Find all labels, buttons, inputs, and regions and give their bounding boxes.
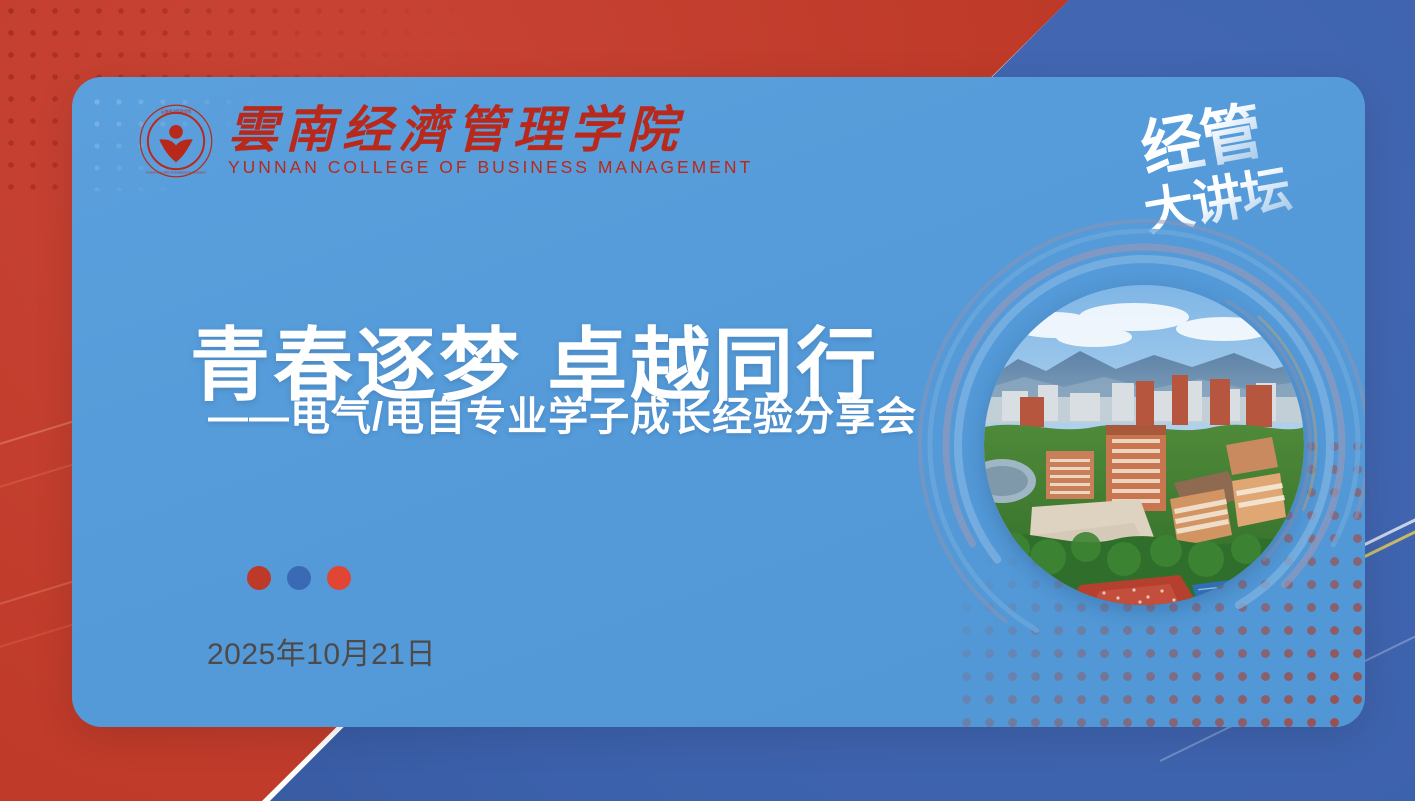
presentation-slide: 云南经济管理学院 YUNNAN COLLEGE OF BUSINESS MANA… bbox=[0, 0, 1415, 801]
page-subtitle: ——电气/电自专业学子成长经验分享会 bbox=[208, 397, 917, 437]
university-emblem-icon: 云南经济管理学院 YUNNAN COLLEGE OF BUSINESS MANA… bbox=[138, 103, 214, 179]
decorative-dot-row bbox=[247, 566, 351, 590]
svg-text:YUNNAN COLLEGE OF BUSINESS MAN: YUNNAN COLLEGE OF BUSINESS MANAGEMENT bbox=[145, 171, 206, 175]
page-title: 青春逐梦 卓越同行 bbox=[190, 326, 879, 406]
dot-red bbox=[327, 566, 351, 590]
logo-name-en: YUNNAN COLLEGE OF BUSINESS MANAGEMENT bbox=[228, 157, 753, 178]
event-date: 2025年10月21日 bbox=[207, 629, 436, 673]
slide-card: 云南经济管理学院 YUNNAN COLLEGE OF BUSINESS MANA… bbox=[72, 77, 1365, 727]
dot-blue bbox=[287, 566, 311, 590]
campus-photo-medallion bbox=[914, 215, 1365, 675]
dot-dark-red bbox=[247, 566, 271, 590]
logo-name-cn: 雲南经濟管理学院 bbox=[228, 105, 753, 155]
campus-aerial-photo bbox=[984, 285, 1304, 605]
university-logo: 云南经济管理学院 YUNNAN COLLEGE OF BUSINESS MANA… bbox=[138, 103, 753, 179]
svg-text:云南经济管理学院: 云南经济管理学院 bbox=[161, 109, 192, 114]
